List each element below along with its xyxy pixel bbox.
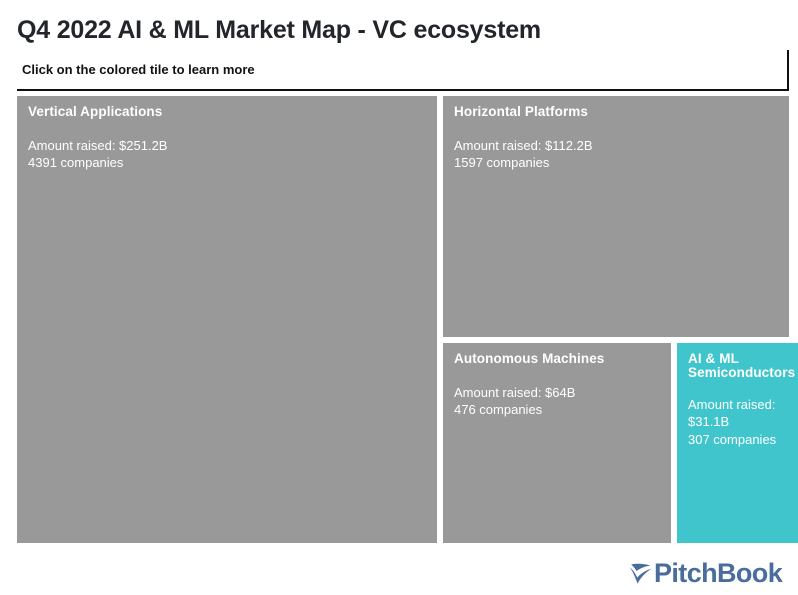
- tile-amount-raised-value: $31.1B: [688, 413, 787, 431]
- treemap-tile-vertical-applications[interactable]: Vertical Applications Amount raised: $25…: [17, 96, 437, 543]
- tile-amount-raised-label: Amount raised:: [688, 396, 787, 414]
- pitchbook-book-swoosh-icon: [629, 560, 653, 586]
- tile-title: AI & ML Semiconductors: [688, 352, 787, 380]
- pitchbook-logo: PitchBook: [629, 557, 782, 589]
- tile-title: Vertical Applications: [28, 105, 426, 119]
- tile-title: Autonomous Machines: [454, 352, 660, 366]
- treemap-tile-ai-ml-semiconductors[interactable]: AI & ML Semiconductors Amount raised: $3…: [677, 343, 798, 543]
- tile-stats: Amount raised: $64B 476 companies: [454, 384, 660, 419]
- tile-company-count: 476 companies: [454, 401, 660, 419]
- tile-company-count: 1597 companies: [454, 154, 778, 172]
- tile-amount-raised: Amount raised: $251.2B: [28, 137, 426, 155]
- tile-title: Horizontal Platforms: [454, 105, 778, 119]
- tile-company-count: 4391 companies: [28, 154, 426, 172]
- tile-amount-raised: Amount raised: $64B: [454, 384, 660, 402]
- tile-company-count: 307 companies: [688, 431, 787, 449]
- treemap-chart: Vertical Applications Amount raised: $25…: [0, 0, 798, 595]
- tile-amount-raised: Amount raised: $112.2B: [454, 137, 778, 155]
- pitchbook-wordmark: PitchBook: [654, 560, 782, 587]
- tile-stats: Amount raised: $31.1B 307 companies: [688, 396, 787, 449]
- treemap-tile-autonomous-machines[interactable]: Autonomous Machines Amount raised: $64B …: [443, 343, 671, 543]
- treemap-tile-horizontal-platforms[interactable]: Horizontal Platforms Amount raised: $112…: [443, 96, 789, 337]
- tile-stats: Amount raised: $112.2B 1597 companies: [454, 137, 778, 172]
- tile-stats: Amount raised: $251.2B 4391 companies: [28, 137, 426, 172]
